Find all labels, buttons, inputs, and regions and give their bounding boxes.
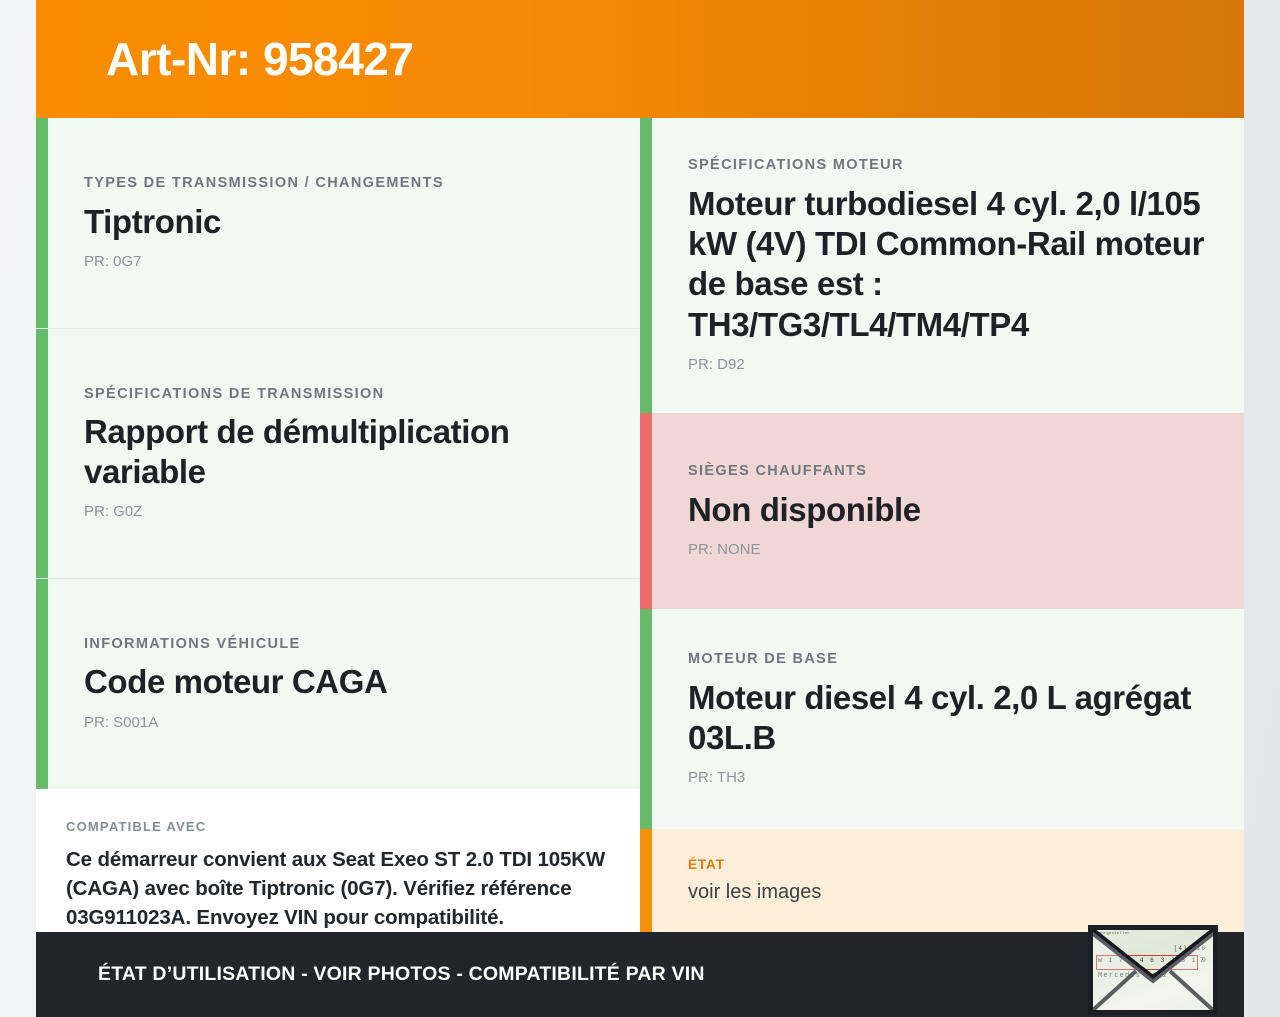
accent-bar-orange (640, 829, 652, 932)
spec-pr-code: PR: NONE (688, 541, 1220, 559)
compatibility-text: Ce démarreur convient aux Seat Exeo ST 2… (66, 845, 610, 932)
spec-card-vehicle-info[interactable]: INFORMATIONS VÉHICULE Code moteur CAGA P… (36, 578, 640, 789)
spec-pr-code: PR: 0G7 (84, 253, 616, 271)
accent-bar-green (640, 118, 652, 413)
spec-value: Moteur turbodiesel 4 cyl. 2,0 l/105 kW (… (688, 184, 1220, 345)
header-bar: Art-Nr: 958427 (36, 0, 1244, 118)
spec-value: Tiptronic (84, 202, 616, 242)
spec-label: INFORMATIONS VÉHICULE (84, 636, 616, 653)
vin-document-thumbnail[interactable]: Fahrgestellnr. [4] A16 W 1 7 1 4 6 3 J 3… (1088, 925, 1218, 1015)
accent-bar-green (640, 609, 652, 830)
spec-value: Moteur diesel 4 cyl. 2,0 L agrégat 03L.B (688, 678, 1220, 759)
spec-pr-code: PR: TH3 (688, 769, 1220, 787)
spec-pr-code: PR: S001A (84, 714, 616, 732)
spec-card-base-engine[interactable]: MOTEUR DE BASE Moteur diesel 4 cyl. 2,0 … (640, 609, 1244, 830)
compatibility-label: COMPATIBLE AVEC (66, 819, 610, 835)
spec-card-heated-seats[interactable]: SIÈGES CHAUFFANTS Non disponible PR: NON… (640, 413, 1244, 609)
etat-label: ÉTAT (688, 857, 1220, 873)
spec-card-engine-specs[interactable]: SPÉCIFICATIONS MOTEUR Moteur turbodiesel… (640, 118, 1244, 413)
spec-label: SPÉCIFICATIONS MOTEUR (688, 157, 1220, 174)
right-column: SPÉCIFICATIONS MOTEUR Moteur turbodiesel… (640, 118, 1244, 932)
spec-pr-code: PR: D92 (688, 356, 1220, 374)
spec-pr-code: PR: G0Z (84, 503, 616, 521)
listing-card: Art-Nr: 958427 TYPES DE TRANSMISSION / C… (36, 0, 1244, 1017)
page-title: Art-Nr: 958427 (106, 36, 413, 82)
footer-text: ÉTAT D’UTILISATION - VOIR PHOTOS - COMPA… (98, 963, 705, 986)
content-columns: TYPES DE TRANSMISSION / CHANGEMENTS Tipt… (36, 118, 1244, 932)
spec-value: Code moteur CAGA (84, 662, 616, 702)
accent-bar-red (640, 413, 652, 609)
footer-bar: ÉTAT D’UTILISATION - VOIR PHOTOS - COMPA… (36, 932, 1244, 1017)
spec-card-transmission-type[interactable]: TYPES DE TRANSMISSION / CHANGEMENTS Tipt… (36, 118, 640, 328)
accent-bar-green (36, 579, 48, 789)
page-root: Art-Nr: 958427 TYPES DE TRANSMISSION / C… (0, 0, 1280, 1017)
spec-label: SPÉCIFICATIONS DE TRANSMISSION (84, 386, 616, 403)
accent-bar-green (36, 329, 48, 577)
envelope-icon (1090, 927, 1216, 1013)
spec-label: MOTEUR DE BASE (688, 651, 1220, 668)
spec-card-etat[interactable]: ÉTAT voir les images (640, 829, 1244, 932)
spec-card-transmission-specs[interactable]: SPÉCIFICATIONS DE TRANSMISSION Rapport d… (36, 328, 640, 577)
compatibility-card: COMPATIBLE AVEC Ce démarreur convient au… (36, 789, 640, 932)
spec-label: SIÈGES CHAUFFANTS (688, 463, 1220, 480)
spec-value: Rapport de démultiplication variable (84, 412, 616, 493)
spec-value: Non disponible (688, 490, 1220, 530)
accent-bar-green (36, 118, 48, 328)
etat-value: voir les images (688, 880, 1220, 904)
spec-label: TYPES DE TRANSMISSION / CHANGEMENTS (84, 175, 616, 192)
left-column: TYPES DE TRANSMISSION / CHANGEMENTS Tipt… (36, 118, 640, 932)
